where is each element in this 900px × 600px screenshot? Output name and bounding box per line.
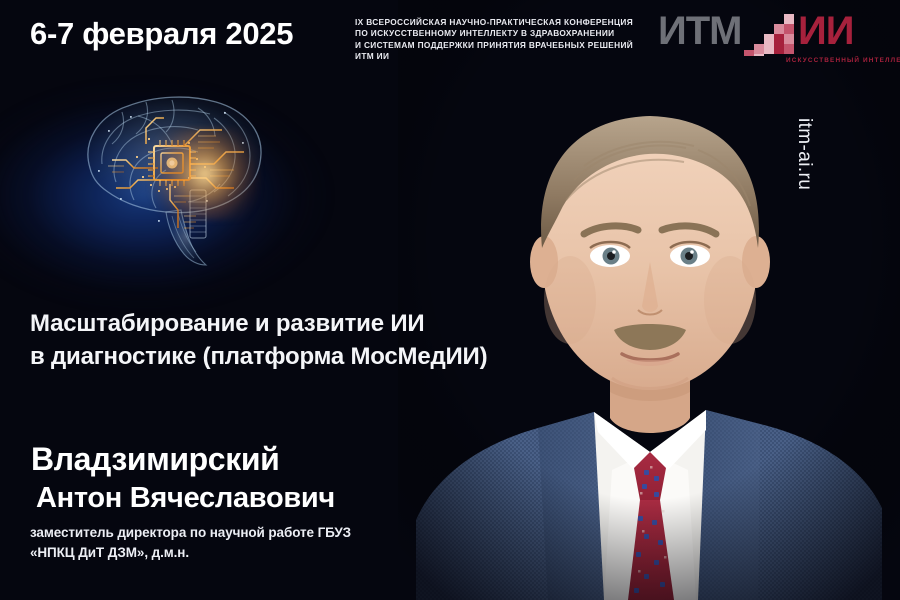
speaker-first-name: Антон Вячеславович	[36, 481, 335, 516]
speaker-role-line-1: заместитель директора по научной работе …	[30, 523, 351, 543]
website-url[interactable]: itm-ai.ru	[793, 118, 815, 248]
brain-illustration	[38, 72, 306, 272]
conference-description: IX ВСЕРОССИЙСКАЯ НАУЧНО-ПРАКТИЧЕСКАЯ КОН…	[355, 17, 655, 63]
conference-line-3: И СИСТЕМАМ ПОДДЕРЖКИ ПРИНЯТИЯ ВРАЧЕБНЫХ …	[355, 40, 655, 51]
logo-text-itm: ИТМ	[658, 11, 742, 51]
logo-text-ii: ИИ	[798, 11, 854, 51]
talk-title-line-1: Масштабирование и развитие ИИ	[30, 307, 487, 340]
talk-title: Масштабирование и развитие ИИ в диагност…	[30, 307, 487, 373]
itm-ai-logo[interactable]: ИТМ ИИ ИСКУССТВЕННЫЙ ИНТЕЛЛЕКТ	[658, 10, 886, 72]
talk-title-line-2: в диагностике (платформа МосМедИИ)	[30, 340, 487, 373]
conference-line-1: IX ВСЕРОССИЙСКАЯ НАУЧНО-ПРАКТИЧЕСКАЯ КОН…	[355, 17, 655, 28]
logo-pixel-triangle-icon	[732, 14, 802, 56]
event-date: 6-7 февраля 2025	[30, 16, 293, 52]
conference-line-2: ПО ИСКУССТВЕННОМУ ИНТЕЛЛЕКТУ В ЗДРАВОХРА…	[355, 28, 655, 39]
presentation-slide: 6-7 февраля 2025 IX ВСЕРОССИЙСКАЯ НАУЧНО…	[0, 0, 900, 600]
speaker-portrait	[398, 0, 900, 600]
speaker-role-line-2: «НПКЦ ДиТ ДЗМ», д.м.н.	[30, 543, 351, 563]
logo-tagline: ИСКУССТВЕННЫЙ ИНТЕЛЛЕКТ	[786, 57, 900, 64]
conference-line-4: ИТМ ИИ	[355, 51, 655, 62]
speaker-last-name: Владзимирский	[31, 440, 279, 478]
speaker-role: заместитель директора по научной работе …	[30, 523, 351, 563]
